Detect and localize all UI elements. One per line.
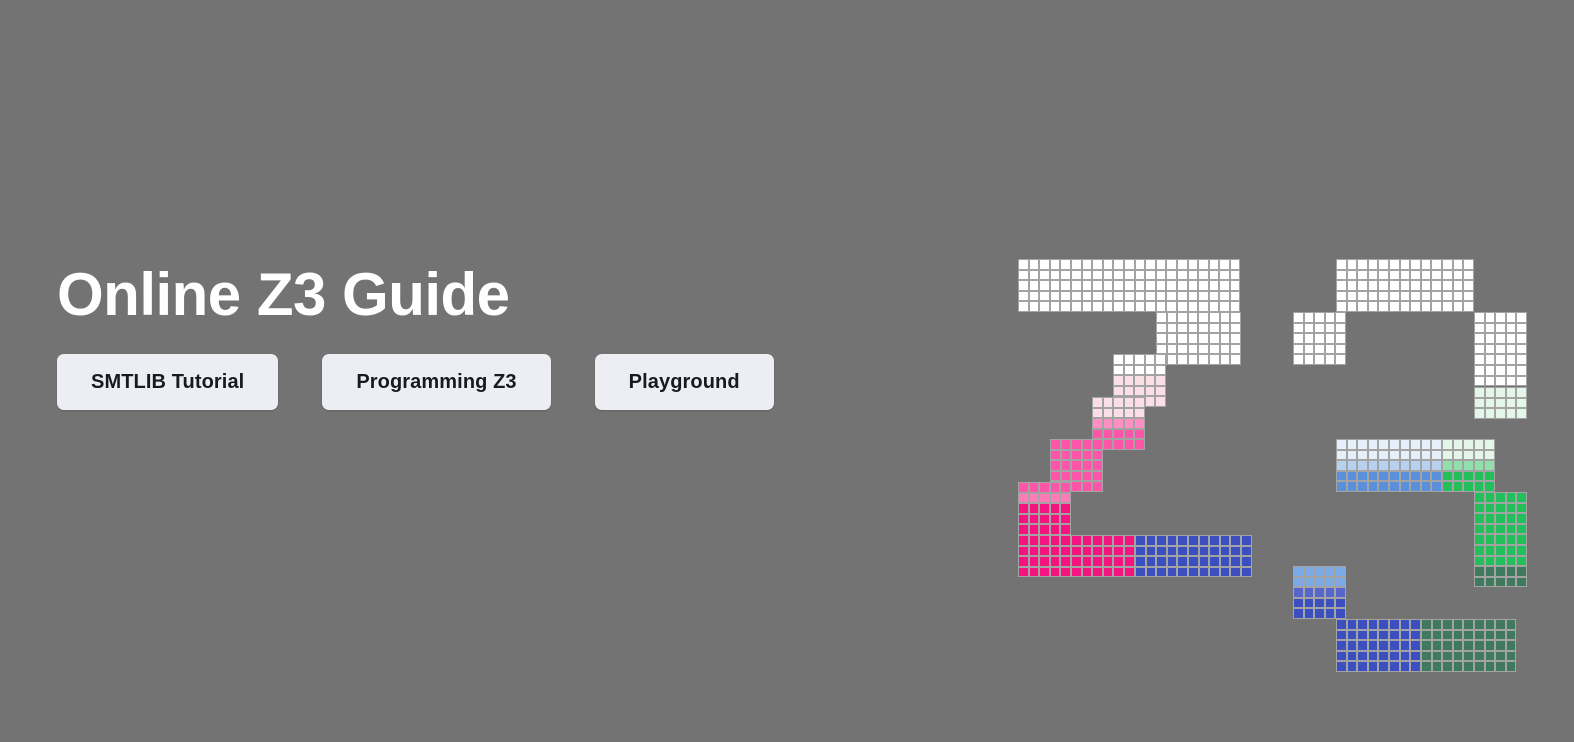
logo-pixel [1506,312,1517,323]
logo-pixel [1389,619,1400,630]
logo-pixel [1389,630,1400,641]
logo-pixel [1474,524,1485,535]
logo-pixel [1378,630,1389,641]
logo-pixel [1113,546,1124,557]
logo-pixel [1209,333,1220,344]
logo-pixel [1378,481,1389,492]
logo-pixel [1113,301,1124,312]
logo-pixel [1304,598,1315,609]
logo-pixel [1432,640,1443,651]
logo-pixel [1146,567,1157,578]
logo-pixel [1516,354,1527,365]
logo-pixel [1421,280,1432,291]
logo-pixel [1474,471,1485,482]
logo-pixel [1241,546,1252,557]
logo-pixel [1145,396,1156,407]
logo-pixel [1453,661,1464,672]
logo-pixel [1474,577,1485,588]
logo-pixel [1431,291,1442,302]
logo-pixel [1410,280,1421,291]
seven-upper-stem [1156,312,1241,365]
three-right-col-mid [1474,492,1527,566]
logo-pixel [1516,312,1527,323]
logo-pixel [1474,556,1485,567]
logo-pixel [1368,661,1379,672]
logo-pixel [1325,587,1336,598]
logo-pixel [1495,365,1506,376]
logo-pixel [1474,513,1485,524]
smtlib-tutorial-button[interactable]: SMTLIB Tutorial [57,354,278,410]
logo-pixel [1113,280,1124,291]
logo-pixel [1347,651,1358,662]
logo-pixel [1421,259,1432,270]
logo-pixel [1421,651,1432,662]
logo-pixel [1029,503,1040,514]
logo-pixel [1431,450,1442,461]
logo-pixel [1230,259,1241,270]
logo-pixel [1092,408,1103,419]
logo-pixel [1103,429,1114,440]
logo-pixel [1071,535,1082,546]
logo-pixel [1421,450,1432,461]
logo-pixel [1453,259,1464,270]
logo-pixel [1495,503,1506,514]
logo-pixel [1177,291,1188,302]
logo-pixel [1092,291,1103,302]
logo-pixel [1378,270,1389,281]
logo-pixel [1389,460,1400,471]
logo-pixel [1156,333,1167,344]
logo-pixel [1219,301,1230,312]
logo-pixel [1050,482,1061,493]
logo-pixel [1230,556,1241,567]
logo-pixel [1347,270,1358,281]
three-left-nub-top [1293,312,1346,365]
logo-pixel [1050,280,1061,291]
seven-step-4 [1018,482,1071,535]
logo-pixel [1082,270,1093,281]
logo-pixel [1314,608,1325,619]
logo-pixel [1220,567,1231,578]
logo-pixel [1506,387,1517,398]
logo-pixel [1018,280,1029,291]
logo-pixel [1516,566,1527,577]
logo-pixel [1506,376,1517,387]
logo-pixel [1029,556,1040,567]
logo-pixel [1135,567,1146,578]
logo-pixel [1071,291,1082,302]
programming-z3-button[interactable]: Programming Z3 [322,354,550,410]
logo-pixel [1431,460,1442,471]
logo-pixel [1304,587,1315,598]
logo-pixel [1442,619,1453,630]
logo-pixel [1135,270,1146,281]
logo-pixel [1167,323,1178,334]
logo-pixel [1060,270,1071,281]
logo-pixel [1484,450,1495,461]
three-top-bar [1336,259,1474,312]
logo-pixel [1155,354,1166,365]
logo-pixel [1071,567,1082,578]
logo-pixel [1018,291,1029,302]
logo-pixel [1336,439,1347,450]
logo-pixel [1018,524,1029,535]
logo-pixel [1177,556,1188,567]
logo-pixel [1506,365,1517,376]
logo-pixel [1474,534,1485,545]
logo-pixel [1368,439,1379,450]
logo-pixel [1453,471,1464,482]
logo-pixel [1474,640,1485,651]
logo-pixel [1293,312,1304,323]
logo-pixel [1156,567,1167,578]
logo-pixel [1050,535,1061,546]
logo-pixel [1146,535,1157,546]
logo-pixel [1484,439,1495,450]
logo-pixel [1474,312,1485,323]
logo-pixel [1516,545,1527,556]
logo-pixel [1134,439,1145,450]
logo-pixel [1336,640,1347,651]
logo-pixel [1506,661,1517,672]
logo-pixel [1325,566,1336,577]
logo-pixel [1336,661,1347,672]
logo-pixel [1293,566,1304,577]
logo-pixel [1134,386,1145,397]
logo-pixel [1146,556,1157,567]
logo-pixel [1474,333,1485,344]
hero-action-buttons: SMTLIB TutorialProgramming Z3Playground [57,354,957,410]
logo-pixel [1378,661,1389,672]
logo-pixel [1199,567,1210,578]
logo-pixel [1167,333,1178,344]
logo-pixel [1198,291,1209,302]
logo-pixel [1018,259,1029,270]
logo-pixel [1495,534,1506,545]
logo-pixel [1293,354,1304,365]
logo-pixel [1463,259,1474,270]
logo-pixel [1421,270,1432,281]
logo-pixel [1103,397,1114,408]
logo-pixel [1506,651,1517,662]
logo-pixel [1156,259,1167,270]
logo-pixel [1060,567,1071,578]
logo-pixel [1495,545,1506,556]
logo-pixel [1209,344,1220,355]
logo-pixel [1188,354,1199,365]
logo-pixel [1029,259,1040,270]
logo-pixel [1188,270,1199,281]
logo-pixel [1506,524,1517,535]
logo-pixel [1516,524,1527,535]
logo-pixel [1400,471,1411,482]
logo-pixel [1474,344,1485,355]
logo-pixel [1135,546,1146,557]
logo-pixel [1092,259,1103,270]
logo-pixel [1304,312,1315,323]
three-left-nub-bot [1293,566,1346,619]
logo-pixel [1506,398,1517,409]
logo-pixel [1060,546,1071,557]
logo-pixel [1039,259,1050,270]
logo-pixel [1177,259,1188,270]
logo-pixel [1463,481,1474,492]
logo-pixel [1378,640,1389,651]
logo-pixel [1336,291,1347,302]
logo-pixel [1357,460,1368,471]
logo-pixel [1177,312,1188,323]
logo-pixel [1314,323,1325,334]
logo-pixel [1453,301,1464,312]
logo-pixel [1113,439,1124,450]
seven-foot-blue [1135,535,1252,577]
logo-pixel [1230,333,1241,344]
logo-pixel [1421,481,1432,492]
logo-pixel [1442,450,1453,461]
logo-pixel [1082,439,1093,450]
logo-pixel [1113,291,1124,302]
logo-pixel [1389,661,1400,672]
logo-pixel [1506,333,1517,344]
logo-pixel [1135,291,1146,302]
logo-pixel [1506,408,1517,419]
logo-pixel [1293,323,1304,334]
logo-pixel [1060,291,1071,302]
logo-pixel [1113,354,1124,365]
logo-pixel [1071,270,1082,281]
logo-pixel [1050,301,1061,312]
logo-pixel [1474,481,1485,492]
logo-pixel [1092,439,1103,450]
logo-pixel [1124,386,1135,397]
logo-pixel [1400,439,1411,450]
logo-pixel [1485,492,1496,503]
logo-pixel [1432,630,1443,641]
logo-pixel [1124,397,1135,408]
logo-pixel [1474,651,1485,662]
logo-pixel [1029,546,1040,557]
logo-pixel [1314,566,1325,577]
logo-pixel [1325,344,1336,355]
logo-pixel [1421,439,1432,450]
logo-pixel [1325,577,1336,588]
logo-pixel [1389,301,1400,312]
logo-pixel [1335,323,1346,334]
logo-pixel [1124,291,1135,302]
logo-pixel [1029,280,1040,291]
logo-pixel [1431,301,1442,312]
logo-pixel [1167,312,1178,323]
logo-pixel [1209,556,1220,567]
logo-pixel [1050,567,1061,578]
logo-pixel [1453,439,1464,450]
logo-pixel [1209,291,1220,302]
logo-pixel [1357,651,1368,662]
logo-pixel [1495,651,1506,662]
logo-pixel [1188,259,1199,270]
logo-pixel [1463,280,1474,291]
logo-pixel [1485,651,1496,662]
logo-pixel [1124,567,1135,578]
logo-pixel [1485,323,1496,334]
logo-pixel [1485,408,1496,419]
logo-pixel [1145,386,1156,397]
logo-pixel [1506,503,1517,514]
logo-pixel [1167,567,1178,578]
logo-pixel [1177,567,1188,578]
logo-pixel [1209,270,1220,281]
logo-pixel [1506,577,1517,588]
logo-pixel [1061,450,1072,461]
logo-pixel [1199,556,1210,567]
logo-pixel [1474,323,1485,334]
logo-pixel [1230,301,1241,312]
logo-pixel [1357,619,1368,630]
logo-pixel [1113,567,1124,578]
logo-pixel [1060,503,1071,514]
logo-pixel [1421,640,1432,651]
logo-pixel [1177,323,1188,334]
logo-pixel [1431,259,1442,270]
logo-pixel [1113,375,1124,386]
logo-pixel [1400,619,1411,630]
logo-pixel [1474,460,1485,471]
logo-pixel [1050,259,1061,270]
logo-pixel [1463,651,1474,662]
logo-pixel [1516,398,1527,409]
logo-pixel [1092,429,1103,440]
logo-pixel [1029,524,1040,535]
logo-pixel [1506,640,1517,651]
logo-pixel [1453,619,1464,630]
logo-pixel [1314,587,1325,598]
logo-pixel [1145,375,1156,386]
logo-pixel [1050,450,1061,461]
logo-pixel [1082,450,1093,461]
logo-pixel [1103,535,1114,546]
logo-pixel [1368,460,1379,471]
logo-pixel [1442,301,1453,312]
logo-pixel [1304,354,1315,365]
logo-pixel [1368,270,1379,281]
logo-pixel [1400,460,1411,471]
logo-pixel [1357,640,1368,651]
logo-pixel [1485,354,1496,365]
logo-pixel [1188,291,1199,302]
logo-pixel [1018,482,1029,493]
logo-pixel [1516,556,1527,567]
logo-pixel [1029,493,1040,504]
logo-pixel [1347,259,1358,270]
logo-pixel [1198,312,1209,323]
logo-pixel [1335,587,1346,598]
logo-pixel [1463,439,1474,450]
logo-pixel [1209,259,1220,270]
logo-pixel [1314,312,1325,323]
logo-pixel [1432,661,1443,672]
logo-pixel [1357,270,1368,281]
logo-pixel [1474,619,1485,630]
logo-digit-7 [1018,259,1250,579]
logo-pixel [1474,354,1485,365]
hero-section: Online Z3 Guide SMTLIB TutorialProgrammi… [0,0,1574,742]
logo-pixel [1495,492,1506,503]
logo-pixel [1230,270,1241,281]
logo-pixel [1092,546,1103,557]
logo-pixel [1061,471,1072,482]
logo-pixel [1410,301,1421,312]
playground-button[interactable]: Playground [595,354,774,410]
logo-pixel [1209,546,1220,557]
logo-pixel [1389,651,1400,662]
logo-pixel [1156,546,1167,557]
logo-pixel [1453,481,1464,492]
logo-pixel [1135,535,1146,546]
logo-pixel [1293,608,1304,619]
logo-pixel [1134,365,1145,376]
logo-pixel [1506,556,1517,567]
logo-pixel [1113,408,1124,419]
three-right-col-top [1474,312,1527,386]
logo-pixel [1230,323,1241,334]
logo-pixel [1145,301,1156,312]
logo-pixel [1474,492,1485,503]
three-mid-bar-blue [1336,439,1442,492]
logo-pixel [1029,535,1040,546]
logo-pixel [1145,365,1156,376]
logo-pixel [1485,640,1496,651]
logo-pixel [1082,546,1093,557]
logo-pixel [1389,481,1400,492]
logo-pixel [1039,301,1050,312]
logo-pixel [1516,534,1527,545]
logo-pixel [1177,535,1188,546]
logo-pixel [1485,545,1496,556]
logo-pixel [1039,567,1050,578]
logo-pixel [1400,280,1411,291]
logo-pixel [1113,535,1124,546]
logo-pixel [1506,566,1517,577]
logo-pixel [1474,398,1485,409]
logo-pixel [1124,556,1135,567]
logo-pixel [1336,630,1347,641]
logo-pixel [1103,301,1114,312]
logo-pixel [1198,259,1209,270]
logo-pixel [1516,365,1527,376]
logo-pixel [1442,661,1453,672]
logo-pixel [1219,291,1230,302]
logo-pixel [1442,630,1453,641]
logo-pixel [1124,418,1135,429]
logo-pixel [1516,577,1527,588]
logo-pixel [1113,397,1124,408]
logo-pixel [1516,408,1527,419]
logo-pixel [1357,481,1368,492]
logo-pixel [1463,619,1474,630]
logo-pixel [1421,460,1432,471]
logo-pixel [1314,354,1325,365]
logo-pixel [1092,418,1103,429]
logo-pixel [1061,439,1072,450]
logo-pixel [1421,619,1432,630]
logo-pixel [1103,259,1114,270]
logo-pixel [1177,280,1188,291]
logo-pixel [1347,450,1358,461]
logo-pixel [1347,661,1358,672]
logo-pixel [1103,270,1114,281]
logo-pixel [1124,354,1135,365]
logo-pixel [1442,270,1453,281]
